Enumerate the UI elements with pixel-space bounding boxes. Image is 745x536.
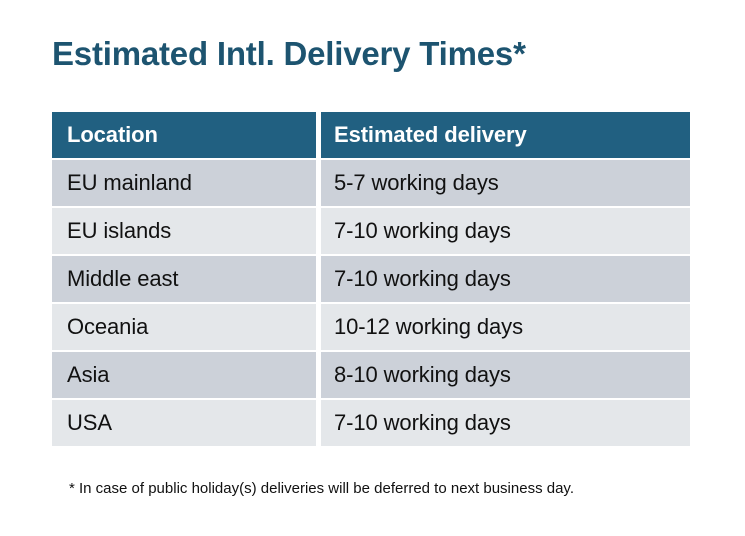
table-row: Oceania 10-12 working days xyxy=(52,304,690,350)
cell-location: Oceania xyxy=(52,304,316,350)
cell-location: Middle east xyxy=(52,256,316,302)
cell-delivery: 10-12 working days xyxy=(321,304,690,350)
delivery-times-table: Location Estimated delivery EU mainland … xyxy=(52,112,690,446)
cell-delivery: 7-10 working days xyxy=(321,256,690,302)
cell-delivery-value: 5-7 working days xyxy=(334,170,499,196)
cell-delivery-value: 7-10 working days xyxy=(334,218,511,244)
cell-location-value: EU islands xyxy=(67,218,171,244)
cell-delivery-value: 8-10 working days xyxy=(334,362,511,388)
cell-location: Asia xyxy=(52,352,316,398)
column-header-estimated-delivery-label: Estimated delivery xyxy=(334,122,527,148)
cell-location-value: Asia xyxy=(67,362,109,388)
table-row: EU islands 7-10 working days xyxy=(52,208,690,254)
page-title: Estimated Intl. Delivery Times* xyxy=(52,34,526,74)
cell-delivery: 5-7 working days xyxy=(321,160,690,206)
cell-delivery-value: 7-10 working days xyxy=(334,266,511,292)
cell-delivery-value: 7-10 working days xyxy=(334,410,511,436)
footnote: * In case of public holiday(s) deliverie… xyxy=(69,480,574,497)
cell-location: EU mainland xyxy=(52,160,316,206)
table-row: Asia 8-10 working days xyxy=(52,352,690,398)
column-header-estimated-delivery: Estimated delivery xyxy=(321,112,690,158)
cell-delivery-value: 10-12 working days xyxy=(334,314,523,340)
column-header-location-label: Location xyxy=(67,122,158,148)
table-row: Middle east 7-10 working days xyxy=(52,256,690,302)
cell-location: EU islands xyxy=(52,208,316,254)
cell-location-value: EU mainland xyxy=(67,170,192,196)
cell-location-value: Middle east xyxy=(67,266,178,292)
column-header-location: Location xyxy=(52,112,316,158)
cell-delivery: 7-10 working days xyxy=(321,208,690,254)
cell-delivery: 8-10 working days xyxy=(321,352,690,398)
table-header-row: Location Estimated delivery xyxy=(52,112,690,158)
cell-location: USA xyxy=(52,400,316,446)
cell-location-value: USA xyxy=(67,410,112,436)
delivery-times-card: Estimated Intl. Delivery Times* Location… xyxy=(0,0,745,536)
table-row: USA 7-10 working days xyxy=(52,400,690,446)
cell-delivery: 7-10 working days xyxy=(321,400,690,446)
cell-location-value: Oceania xyxy=(67,314,148,340)
table-row: EU mainland 5-7 working days xyxy=(52,160,690,206)
